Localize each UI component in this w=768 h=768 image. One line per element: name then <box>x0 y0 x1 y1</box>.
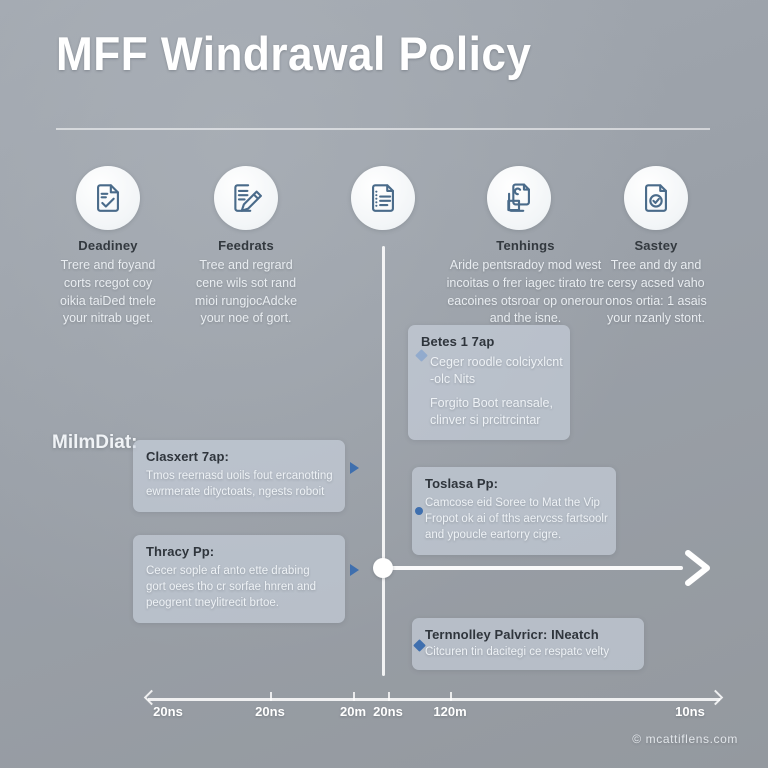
callout-line: gort oees tho cr sorfae hnren and <box>146 580 332 596</box>
scale-cap-left-icon <box>144 690 160 706</box>
document-list-icon <box>351 166 415 230</box>
callout-arrow-icon <box>350 462 359 474</box>
scale-tick <box>450 692 452 701</box>
scale-label: 10ns <box>675 704 705 719</box>
page-title: MFF Windrawal Policy <box>56 26 676 81</box>
step-body: Tree and dy and cersy acsed vaho onos or… <box>571 257 741 328</box>
callout-line: Fropot ok ai of tths aervcss fartsoolr <box>425 512 603 528</box>
callout-line: and ypoucle eartorry cigre. <box>425 528 603 544</box>
callout-line: -olc Nits <box>421 371 557 388</box>
callout-line: clinver si prcitrcintar <box>421 412 557 429</box>
step-icon-4[interactable] <box>487 166 551 230</box>
timeline-vertical-line <box>382 246 385 676</box>
callout-arrow-icon <box>350 564 359 576</box>
document-copy-icon <box>487 166 551 230</box>
step-heading: Sastey <box>571 238 741 253</box>
timeline-arrow-icon <box>676 545 720 591</box>
callout-line: ewrmerate dityctoats, ngests roboit <box>146 485 332 501</box>
callout-ternnolley[interactable]: Ternnolley Palvricr: INeatch Citcuren ti… <box>412 618 644 670</box>
callout-line: Ceger roodle colciyxlcnt <box>421 354 557 371</box>
step-column-5: Sastey Tree and dy and cersy acsed vaho … <box>571 238 741 328</box>
scale-tick <box>353 692 355 701</box>
callout-heading: Thracy Pp: <box>146 544 332 559</box>
bullet-round-icon <box>415 507 423 515</box>
callout-heading: Toslasa Pp: <box>425 476 603 491</box>
callout-line: Forgito Boot reansale, <box>421 395 557 412</box>
callout-thracy[interactable]: Thracy Pp: Cecer sople af anto ette drab… <box>133 535 345 623</box>
document-pen-icon <box>214 166 278 230</box>
callout-clasxert[interactable]: Clasxert 7ap: Tmos reernasd uoils fout e… <box>133 440 345 512</box>
scale-tick <box>388 692 390 701</box>
title-divider <box>56 128 710 130</box>
callout-line: Camcose eid Soree to Mat the Vip <box>425 496 603 512</box>
callout-toslasa[interactable]: Toslasa Pp: Camcose eid Soree to Mat the… <box>412 467 616 555</box>
scale-tick <box>270 692 272 701</box>
timeline-node-dot <box>373 558 393 578</box>
step-icon-3[interactable] <box>351 166 415 230</box>
document-approved-icon <box>624 166 688 230</box>
step-column-2: Feedrats Tree and regrard cene wils sot … <box>161 238 331 328</box>
scale-cap-right-icon <box>708 690 724 706</box>
step-icon-5[interactable] <box>624 166 688 230</box>
step-body: Tree and regrard cene wils sot rand mioi… <box>161 257 331 328</box>
callout-heading: Ternnolley Palvricr: INeatch <box>425 627 631 642</box>
scale-label: 120m <box>433 704 466 719</box>
scale-label: 20ns <box>153 704 183 719</box>
scale-label: 20ns <box>255 704 285 719</box>
milestone-label: MilmDiat: <box>52 432 138 454</box>
callout-betes[interactable]: Betes 1 7ap Ceger roodle colciyxlcnt -ol… <box>408 325 570 440</box>
icon-row <box>0 166 768 232</box>
step-heading: Feedrats <box>161 238 331 253</box>
timeline-horizontal-line <box>383 566 683 570</box>
callout-line: peogrent tneylitrecit brtoe. <box>146 596 332 612</box>
callout-line: Citcuren tin dacitegi ce respatc velty <box>425 645 631 661</box>
infographic-canvas: MFF Windrawal Policy <box>0 0 768 768</box>
callout-line: Cecer sople af anto ette drabing <box>146 564 332 580</box>
callout-heading: Betes 1 7ap <box>421 334 557 349</box>
callout-heading: Clasxert 7ap: <box>146 449 332 464</box>
scale-label: 20ns <box>373 704 403 719</box>
footer-watermark: © mcattiflens.com <box>632 732 738 746</box>
scale-axis <box>148 698 720 701</box>
callout-line: Tmos reernasd uoils fout ercanotting <box>146 469 332 485</box>
step-icon-1[interactable] <box>76 166 140 230</box>
scale-label: 20m <box>340 704 366 719</box>
step-icon-2[interactable] <box>214 166 278 230</box>
document-check-icon <box>76 166 140 230</box>
